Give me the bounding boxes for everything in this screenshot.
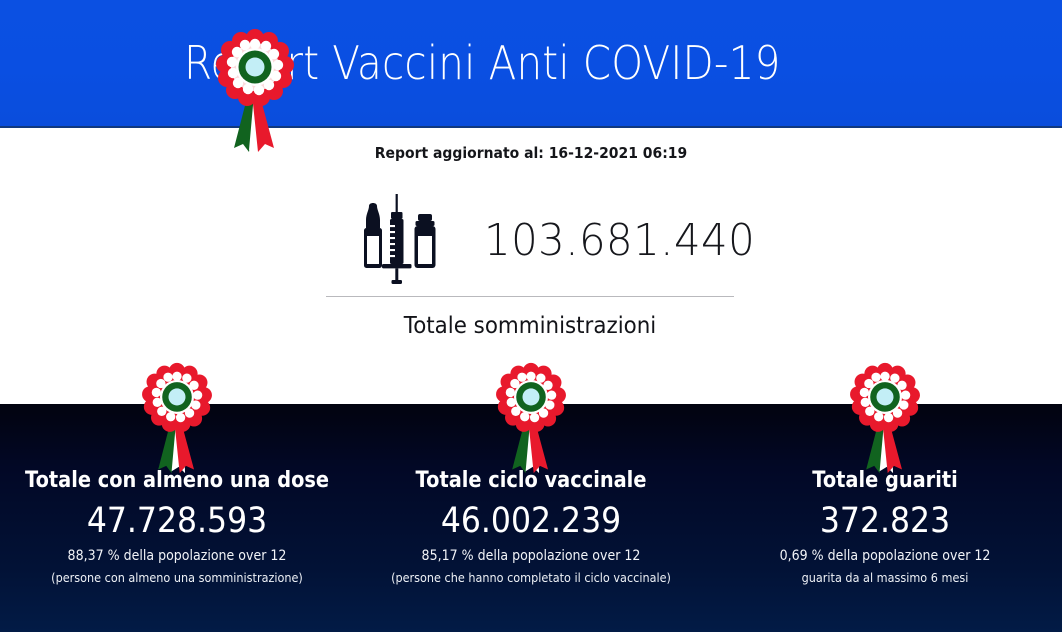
- italian-cockade-icon: [495, 362, 567, 474]
- stat-card-almeno-una-dose: Totale con almeno una dose 47.728.593 88…: [0, 404, 354, 632]
- stat-card-number: 47.728.593: [18, 501, 337, 541]
- stat-card-subtitle-percent: 85,17 % della popolazione over 12: [372, 548, 691, 564]
- italian-cockade-icon: [849, 362, 921, 474]
- total-row: 103.681.440: [326, 190, 734, 290]
- total-administrations-label: Totale somministrazioni: [340, 313, 719, 339]
- vaccine-syringe-vial-icon: [354, 194, 440, 286]
- italian-cockade-icon: [141, 362, 213, 474]
- page-header: Report Vaccini Anti COVID-19: [0, 0, 1062, 128]
- total-administrations-block: 103.681.440 Totale somministrazioni: [326, 190, 734, 339]
- stat-card-subtitle-percent: 88,37 % della popolazione over 12: [18, 548, 337, 564]
- total-divider: [326, 296, 734, 297]
- report-updated-text: Report aggiornato al: 16-12-2021 06:19: [37, 144, 1025, 162]
- stat-card-number: 372.823: [726, 501, 1045, 541]
- total-administrations-number: 103.681.440: [484, 215, 755, 266]
- stats-cards: Totale con almeno una dose 47.728.593 88…: [0, 404, 1062, 632]
- stat-card-title: Totale guariti: [729, 468, 1041, 493]
- stat-card-title: Totale con almeno una dose: [21, 468, 333, 493]
- stat-card-number: 46.002.239: [372, 501, 691, 541]
- stat-card-subtitle-note: (persone con almeno una somministrazione…: [18, 570, 337, 585]
- stat-card-ciclo-vaccinale: Totale ciclo vaccinale 46.002.239 85,17 …: [354, 404, 708, 632]
- italian-cockade-icon: [216, 28, 294, 153]
- stat-card-subtitle-note: (persone che hanno completato il ciclo v…: [372, 570, 691, 585]
- stat-card-title: Totale ciclo vaccinale: [375, 468, 687, 493]
- stat-card-guariti: Totale guariti 372.823 0,69 % della popo…: [708, 404, 1062, 632]
- stat-card-subtitle-note: guarita da al massimo 6 mesi: [726, 570, 1045, 585]
- stat-card-subtitle-percent: 0,69 % della popolazione over 12: [726, 548, 1045, 564]
